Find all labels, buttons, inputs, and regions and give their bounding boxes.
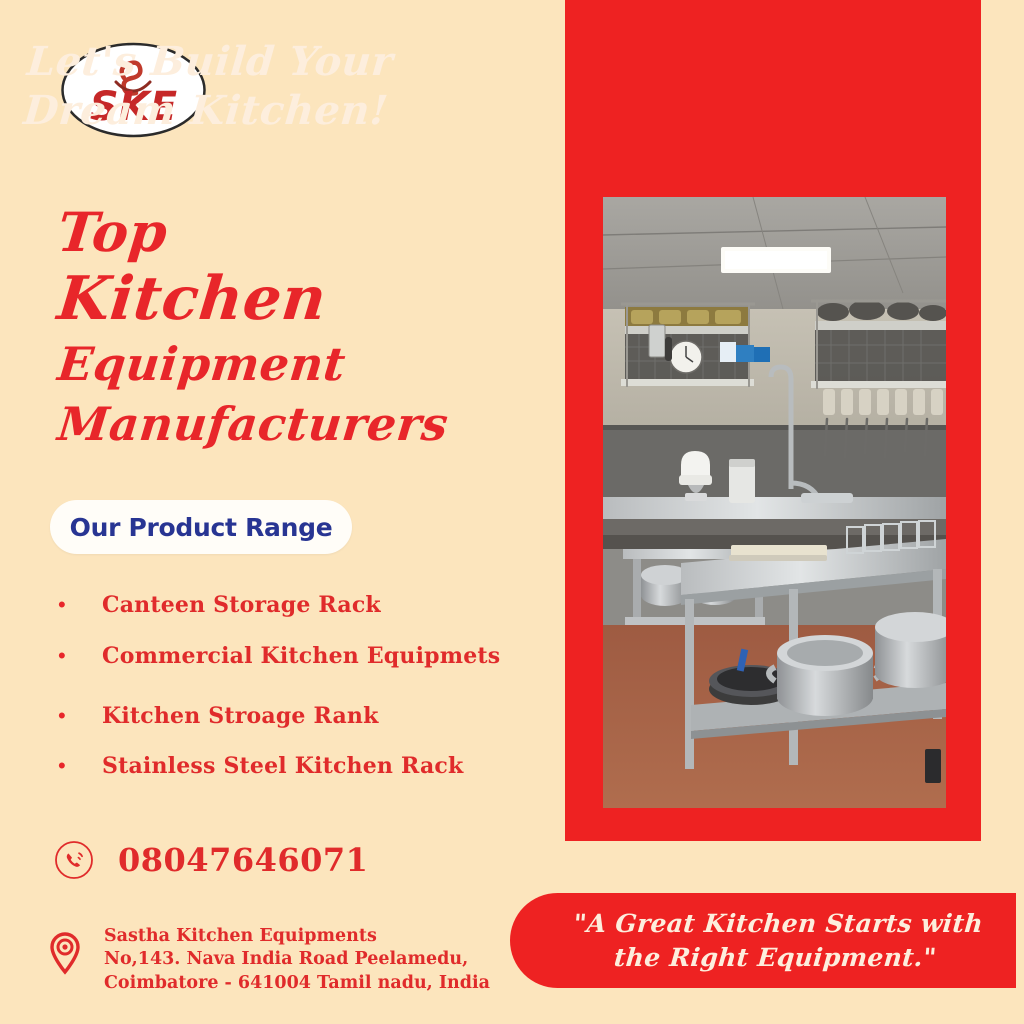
phone-contact[interactable]: 08047646071 (54, 840, 368, 880)
list-item: • Kitchen Stroage Rank (50, 703, 520, 729)
address-company: Sastha Kitchen Equipments (104, 926, 377, 946)
page-title: Top Kitchen Equipment Manufacturers (58, 205, 528, 447)
flyer-canvas: SKE Top Kitchen Equipment Manufacturers … (0, 0, 1024, 1024)
kitchen-photo (603, 197, 946, 808)
phone-number[interactable]: 08047646071 (118, 841, 368, 879)
panel-headline-line-2: Dream Kitchen! (0, 87, 416, 136)
headline-line-1: Top (55, 205, 531, 259)
tagline-line-1: "A Great Kitchen Starts with (573, 909, 985, 938)
list-item: • Canteen Storage Rack (50, 592, 520, 618)
map-pin-icon (48, 931, 82, 975)
list-item-label: Stainless Steel Kitchen Rack (102, 753, 463, 779)
list-item: • Stainless Steel Kitchen Rack (50, 753, 520, 779)
list-item-label: Commercial Kitchen Equipmets (102, 643, 500, 669)
our-product-range-label: Our Product Range (70, 513, 333, 542)
tagline-line-2: the Right Equipment." (569, 941, 981, 975)
address-street: No,143. Nava India Road Peelamedu, (104, 949, 468, 969)
tagline-text: "A Great Kitchen Starts with the Right E… (541, 907, 984, 975)
bullet-icon: • (50, 705, 102, 727)
headline-line-4: Manufacturers (56, 401, 531, 447)
bullet-icon: • (50, 645, 102, 667)
address-lines: Sastha Kitchen Equipments No,143. Nava I… (104, 925, 490, 995)
list-item-label: Canteen Storage Rack (102, 592, 381, 618)
phone-call-icon (54, 840, 94, 880)
panel-headline-line-1: Let's Build Your (25, 38, 395, 85)
bullet-icon: • (50, 755, 102, 777)
list-item-label: Kitchen Stroage Rank (102, 703, 379, 729)
product-list: • Canteen Storage Rack • Commercial Kitc… (50, 592, 520, 779)
list-item: • Commercial Kitchen Equipmets (50, 643, 520, 669)
headline-line-2: Kitchen (55, 269, 531, 329)
headline-line-3: Equipment (56, 341, 531, 387)
address-block: Sastha Kitchen Equipments No,143. Nava I… (48, 925, 490, 995)
bullet-icon: • (50, 594, 102, 616)
our-product-range-badge: Our Product Range (50, 500, 352, 554)
address-city: Coimbatore - 641004 Tamil nadu, India (104, 973, 490, 993)
tagline-banner: "A Great Kitchen Starts with the Right E… (510, 893, 1016, 988)
panel-headline: Let's Build Your Dream Kitchen! (0, 38, 420, 136)
